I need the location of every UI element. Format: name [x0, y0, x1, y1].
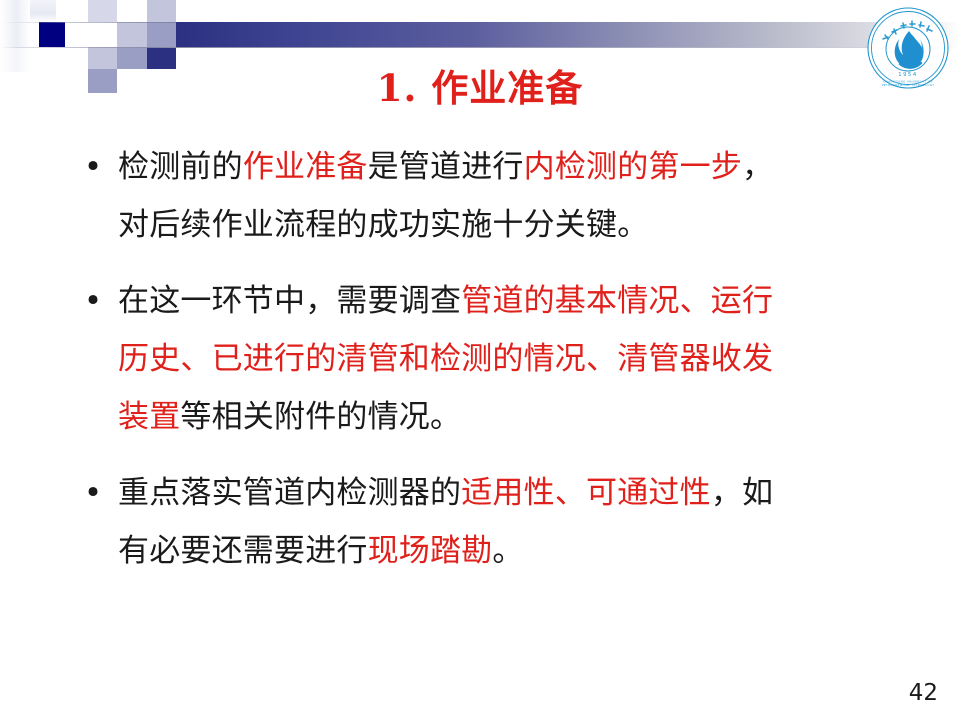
body-text: ，如 [711, 475, 773, 511]
bullet-line: 检测前的作业准备是管道进行内检测的第一步， [118, 138, 888, 196]
bullet-line: 在这一环节中，需要调查管道的基本情况、运行 [118, 272, 888, 330]
header-gradient-bar [176, 22, 960, 47]
body-text: 。 [492, 533, 523, 569]
highlight-text: 管道的基本情况、运行 [461, 283, 773, 319]
bullet-marker-icon: • [80, 138, 106, 196]
slide-body: •检测前的作业准备是管道进行内检测的第一步，对后续作业流程的成功实施十分关键。•… [72, 138, 888, 598]
header-mosaic-square-c [117, 22, 147, 47]
body-text: ， [742, 149, 773, 185]
body-text: 检测前的 [118, 149, 243, 185]
bullet-marker-icon: • [80, 464, 106, 522]
header-rule [0, 47, 960, 48]
bullet-line: 对后续作业流程的成功实施十分关键。 [118, 196, 888, 254]
header-mosaic-fade-left [0, 0, 30, 48]
body-text: 有必要还需要进行 [118, 533, 368, 569]
body-text: 在这一环节中，需要调查 [118, 283, 461, 319]
header-mosaic-square-e [147, 22, 176, 47]
page-number: 42 [909, 680, 938, 706]
header-mosaic-square-navy [39, 22, 65, 47]
highlight-text: 历史、已进行的清管和检测的情况、清管器收发 [118, 341, 773, 377]
bullet-lines: 检测前的作业准备是管道进行内检测的第一步，对后续作业流程的成功实施十分关键。 [118, 138, 888, 254]
body-text: 是管道进行 [368, 149, 524, 185]
page-title: 1. 作业准备 [0, 58, 960, 112]
bullet-marker-icon: • [80, 272, 106, 330]
bullet-block: •重点落实管道内检测器的适用性、可通过性，如有必要还需要进行现场踏勘。 [72, 464, 888, 580]
header-mosaic-square-a [30, 0, 56, 22]
highlight-text: 作业准备 [243, 149, 368, 185]
bullet-line: 历史、已进行的清管和检测的情况、清管器收发 [118, 330, 888, 388]
body-text: 重点落实管道内检测器的 [118, 475, 461, 511]
header-rule-top [0, 22, 176, 23]
bullet-block: •在这一环节中，需要调查管道的基本情况、运行历史、已进行的清管和检测的情况、清管… [72, 272, 888, 446]
header-mosaic-square-b [88, 0, 117, 22]
highlight-text: 适用性、可通过性 [461, 475, 711, 511]
bullet-line: 有必要还需要进行现场踏勘。 [118, 522, 888, 580]
highlight-text: 现场踏勘 [368, 533, 493, 569]
body-text: 对后续作业流程的成功实施十分关键。 [118, 207, 648, 243]
bullet-line: 装置等相关附件的情况。 [118, 388, 888, 446]
body-text: 等相关附件的情况。 [180, 399, 461, 435]
highlight-text: 内检测的第一步 [524, 149, 742, 185]
bullet-lines: 在这一环节中，需要调查管道的基本情况、运行历史、已进行的清管和检测的情况、清管器… [118, 272, 888, 446]
bullet-line: 重点落实管道内检测器的适用性、可通过性，如 [118, 464, 888, 522]
header-mosaic-square-d [147, 0, 176, 22]
highlight-text: 装置 [118, 399, 180, 435]
bullet-lines: 重点落实管道内检测器的适用性、可通过性，如有必要还需要进行现场踏勘。 [118, 464, 888, 580]
bullet-block: •检测前的作业准备是管道进行内检测的第一步，对后续作业流程的成功实施十分关键。 [72, 138, 888, 254]
